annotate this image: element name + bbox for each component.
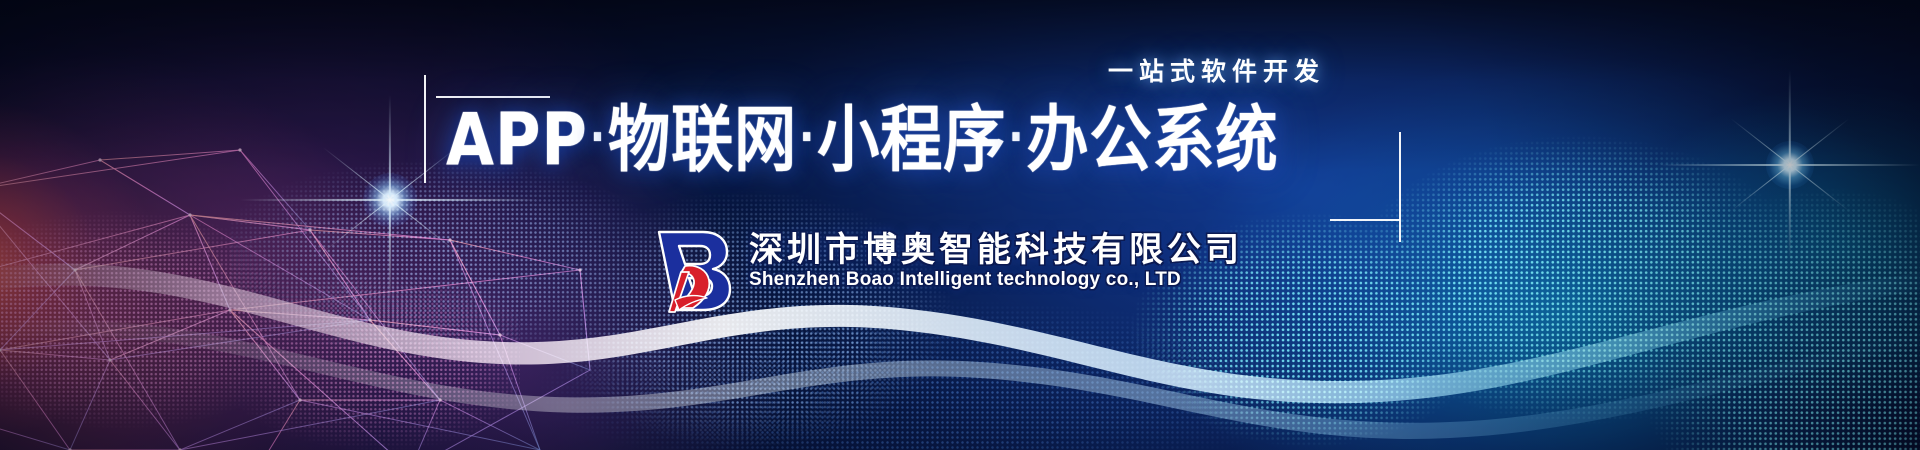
headline-separator: ·	[1006, 111, 1026, 164]
headline-part-office-system: 办公系统	[1027, 97, 1279, 182]
headline-separator: ·	[588, 111, 608, 164]
bracket-right-vertical	[1399, 132, 1401, 242]
boao-logo-icon	[645, 226, 737, 314]
company-name-cn: 深圳市博奥智能科技有限公司	[749, 232, 1243, 269]
bracket-right-horizontal	[1330, 219, 1400, 221]
company-name-en: Shenzhen Boao Intelligent technology co.…	[749, 270, 1243, 291]
bracket-left-vertical	[424, 75, 426, 183]
headline-separator: ·	[797, 111, 817, 164]
headline-part-app: APP	[446, 97, 588, 182]
banner-content: 一站式软件开发 APP·物联网·小程序·办公系统 深圳市博奥智能科技有限公司 S…	[0, 0, 1920, 450]
promo-banner: 一站式软件开发 APP·物联网·小程序·办公系统 深圳市博奥智能科技有限公司 S…	[0, 0, 1920, 450]
banner-tagline: 一站式软件开发	[1108, 52, 1325, 88]
company-name-block: 深圳市博奥智能科技有限公司 Shenzhen Boao Intelligent …	[749, 226, 1243, 291]
banner-headline: APP·物联网·小程序·办公系统	[446, 104, 1279, 176]
headline-part-iot: 物联网	[608, 97, 797, 182]
company-brand-block: 深圳市博奥智能科技有限公司 Shenzhen Boao Intelligent …	[645, 226, 1243, 314]
headline-part-miniprogram: 小程序	[817, 97, 1006, 182]
